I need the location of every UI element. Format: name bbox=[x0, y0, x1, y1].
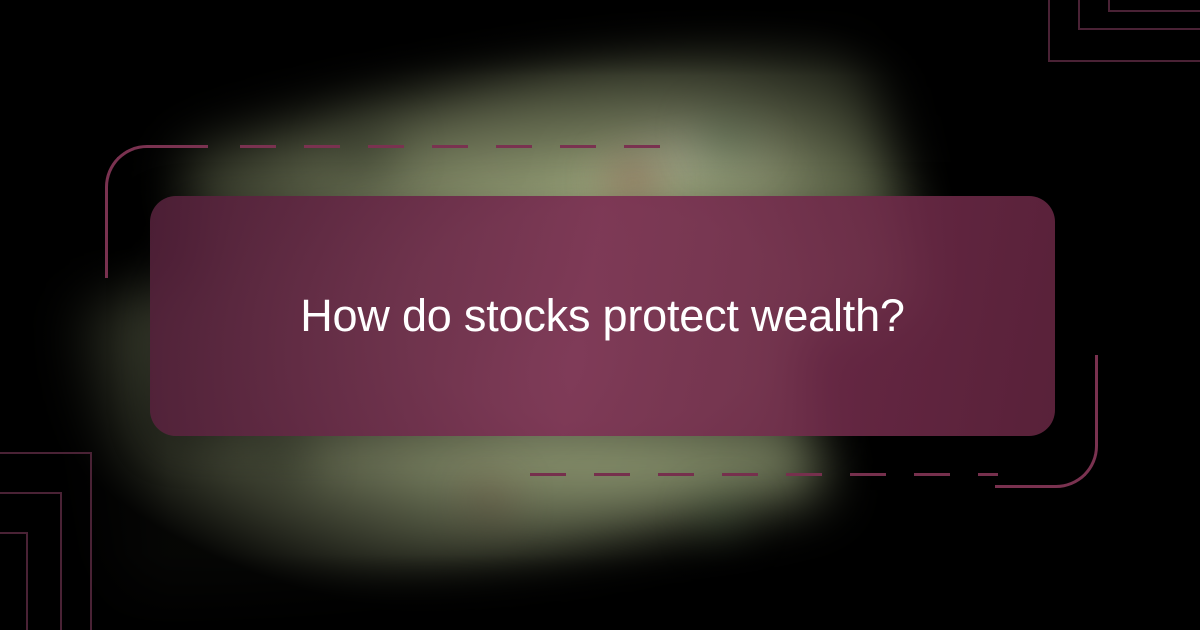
dashed-line-bottom bbox=[530, 473, 998, 476]
headline-card: How do stocks protect wealth? bbox=[150, 196, 1055, 436]
social-card-canvas: How do stocks protect wealth? bbox=[0, 0, 1200, 630]
dashed-line-top bbox=[240, 145, 670, 148]
page-title: How do stocks protect wealth? bbox=[260, 289, 945, 343]
